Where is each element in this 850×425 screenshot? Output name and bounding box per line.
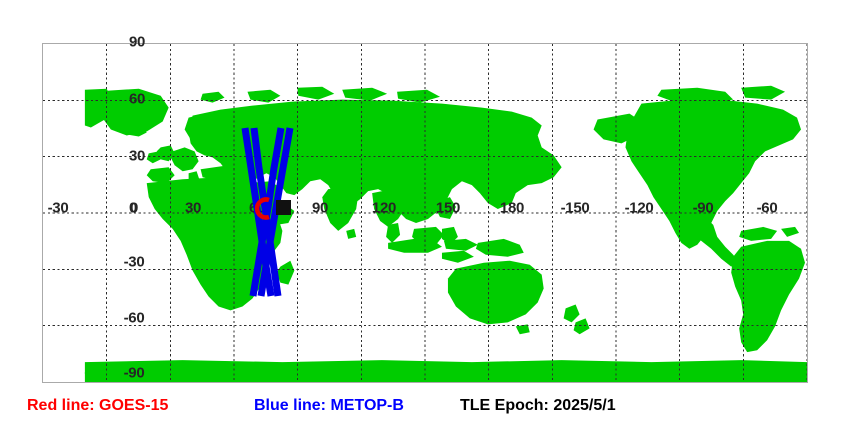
world-map-svg xyxy=(43,44,807,382)
legend-blue-line-metopb: Blue line: METOP-B xyxy=(254,396,404,416)
legend-red-line-goes15: Red line: GOES-15 xyxy=(27,396,168,416)
legend: Red line: GOES-15 Blue line: METOP-B TLE… xyxy=(0,396,850,422)
legend-tle-epoch: TLE Epoch: 2025/5/1 xyxy=(460,396,616,416)
world-map-plot[interactable] xyxy=(42,43,808,383)
landmass-layer xyxy=(85,86,807,382)
screenshot-root: 90 60 30 0 -30 -60 -90 -30 0 30 60 90 12… xyxy=(0,0,850,425)
